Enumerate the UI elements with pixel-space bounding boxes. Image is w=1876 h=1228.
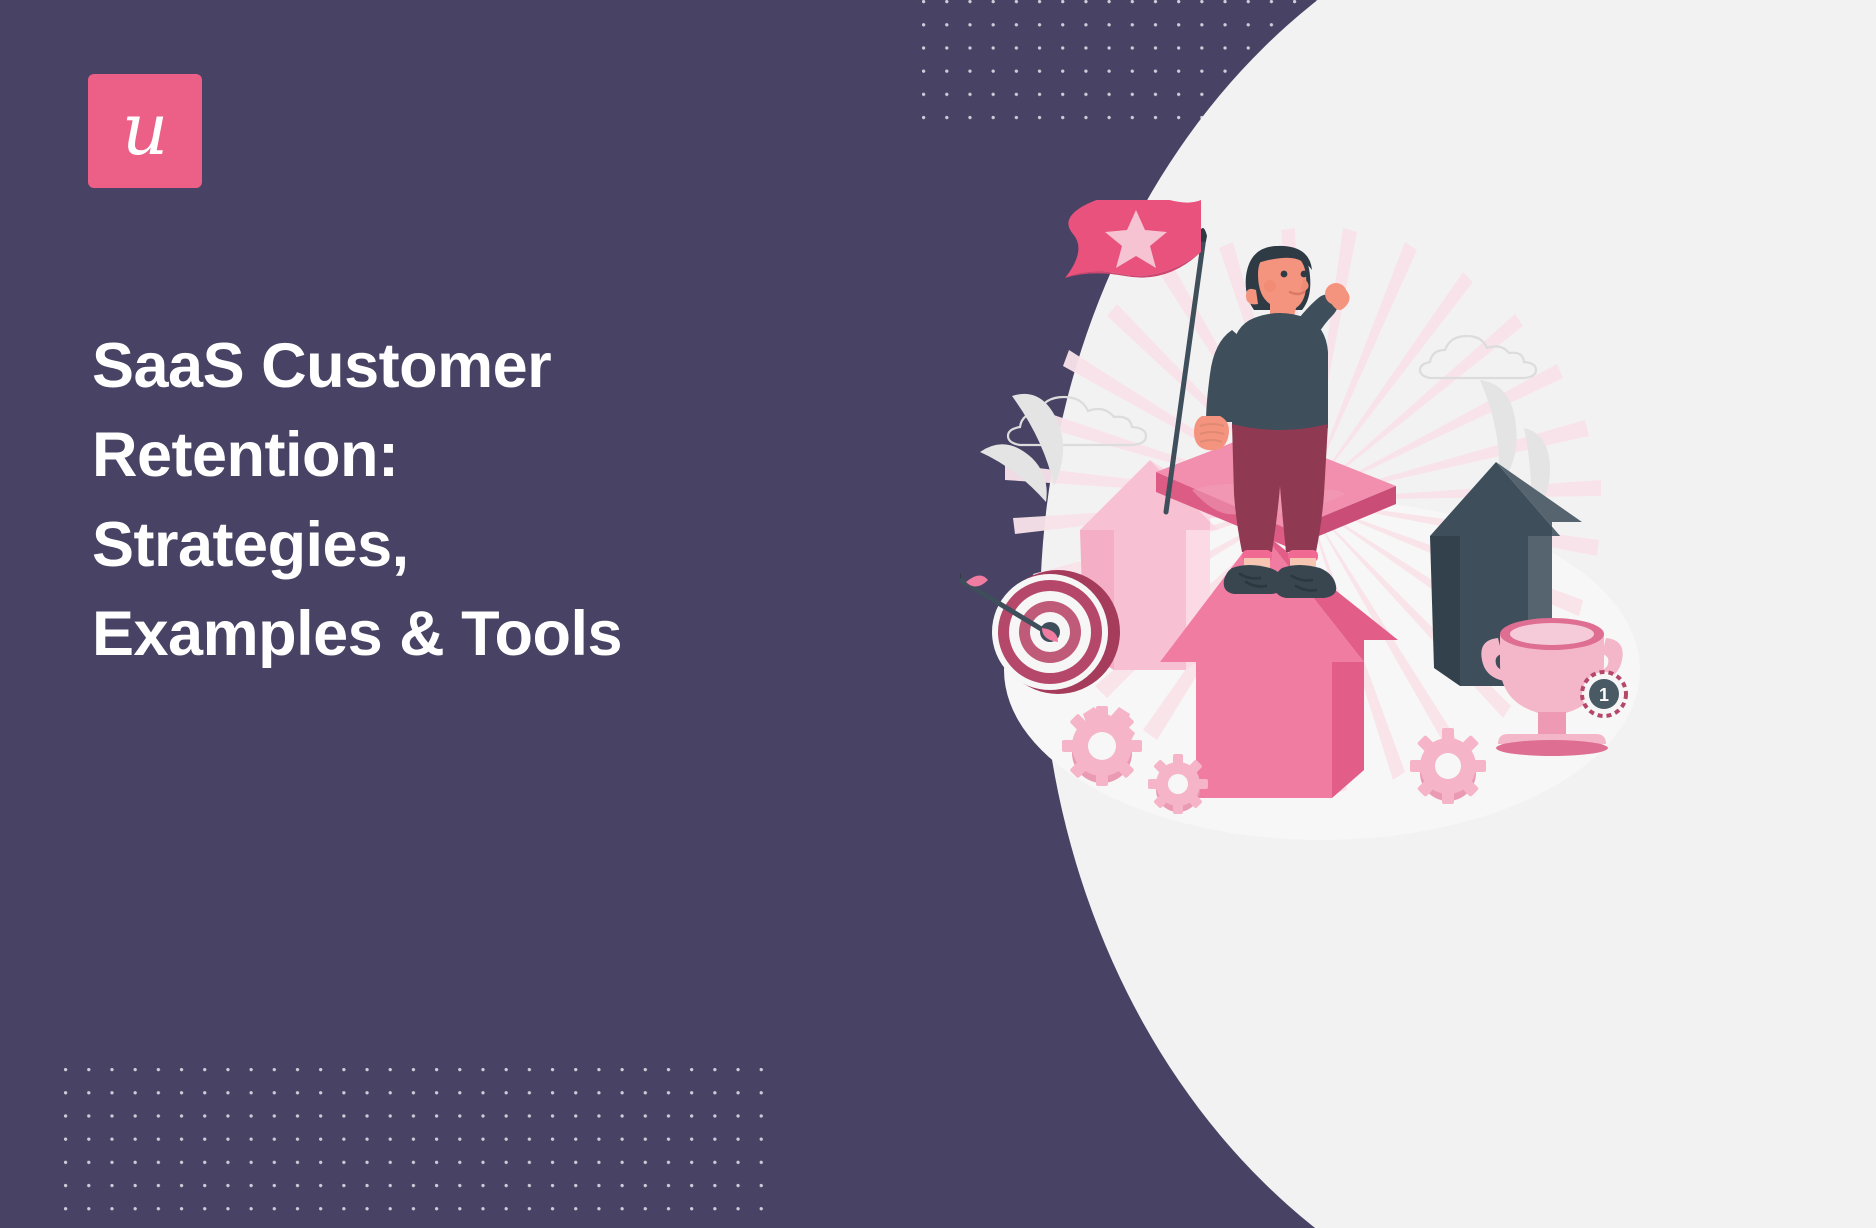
trophy-badge: 1 — [1582, 672, 1626, 716]
target-with-arrow — [960, 569, 1120, 694]
page-title-line-1: SaaS Customer — [92, 322, 832, 411]
userpilot-logo[interactable]: u — [88, 74, 202, 188]
leaf-cluster-left — [980, 394, 1063, 502]
gear-small-middle — [1148, 754, 1208, 814]
gear-right — [1410, 728, 1486, 804]
userpilot-logo-glyph: u — [122, 93, 168, 165]
success-achievement-illustration: 1 — [960, 200, 1680, 840]
page-title-line-3: Strategies, — [92, 501, 832, 590]
page-title-line-2: Retention: — [92, 411, 832, 500]
dot-grid-bottom-left — [64, 1068, 776, 1228]
flag — [1065, 200, 1201, 278]
gear-large-left — [1062, 706, 1142, 786]
page-title-line-4: Examples & Tools — [92, 590, 832, 679]
cover-canvas: u SaaS Customer Retention: Strategies, E… — [0, 0, 1876, 1228]
svg-text:1: 1 — [1599, 685, 1609, 705]
page-title: SaaS Customer Retention: Strategies, Exa… — [92, 322, 832, 680]
